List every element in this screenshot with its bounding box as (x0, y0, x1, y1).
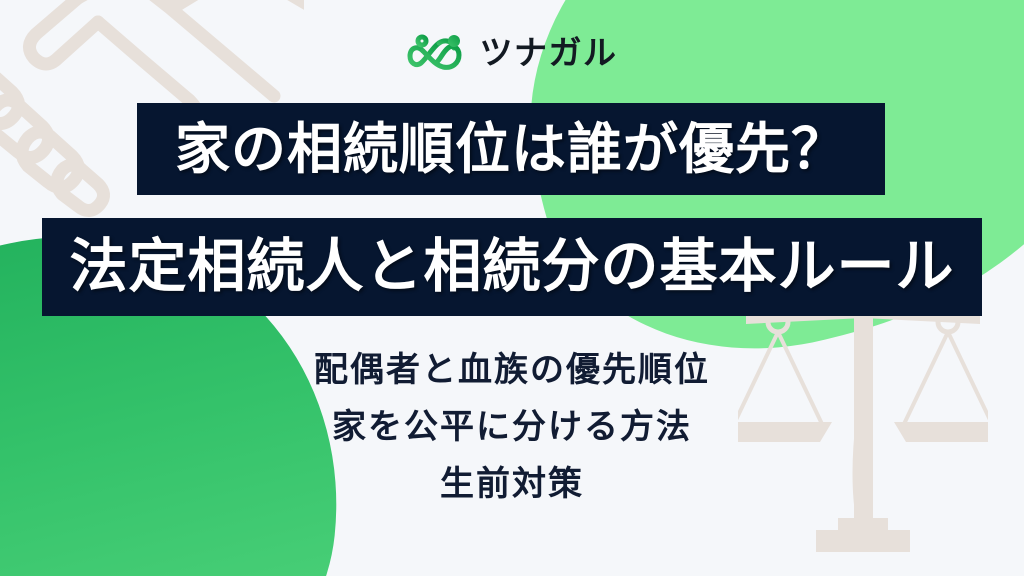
subtitle-block: 配偶者と血族の優先順位 家を公平に分ける方法 生前対策 (0, 342, 1024, 512)
subtitle-line-3: 生前対策 (0, 456, 1024, 513)
subtitle-line-2: 家を公平に分ける方法 (0, 399, 1024, 456)
headline-text-line-1: 家の相続順位は誰が優先？ (175, 122, 847, 177)
tsunagaru-infinity-logo-mark (407, 32, 469, 72)
headline-bar-primary: 家の相続順位は誰が優先？ (137, 103, 885, 195)
brand-logo: ツナガル (0, 32, 1024, 72)
headline-bar-secondary: 法定相続人と相続分の基本ルール (42, 218, 982, 316)
headline-text-line-2: 法定相続人と相続分の基本ルール (69, 238, 954, 296)
brand-wordmark: ツナガル (480, 36, 618, 69)
thumbnail-canvas: ツナガル 家の相続順位は誰が優先？ 法定相続人と相続分の基本ルール 配偶者と血族… (0, 0, 1024, 576)
subtitle-line-1: 配偶者と血族の優先順位 (0, 342, 1024, 399)
